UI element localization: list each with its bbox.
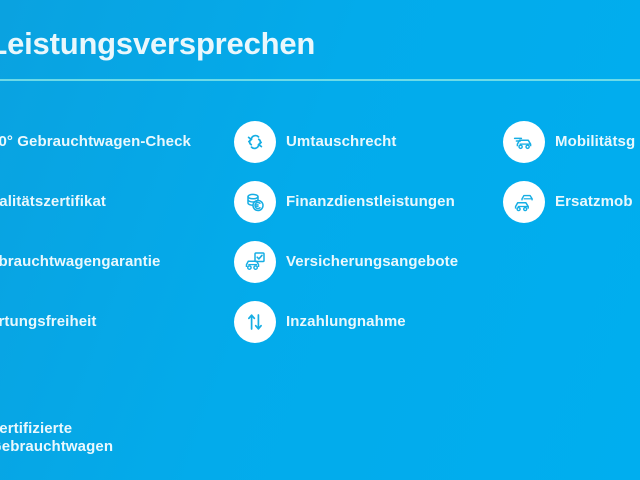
feature-item[interactable]: Umtauschrecht bbox=[234, 112, 502, 172]
coins-euro-icon bbox=[234, 181, 276, 223]
feature-label: Zertifizierte Gebrauchtwagen bbox=[0, 420, 113, 456]
page-title: ere Leistungsversprechen bbox=[0, 24, 640, 64]
feature-item[interactable]: Versicherungsangebote bbox=[234, 232, 502, 292]
feature-label: Inzahlungnahme bbox=[286, 313, 406, 331]
feature-label: Ersatzmob bbox=[555, 193, 633, 211]
feature-label: artungsfreiheit bbox=[0, 313, 97, 331]
column-right: Mobilitätsg Ersatzmob bbox=[503, 112, 640, 232]
title-block: ere Leistungsversprechen bbox=[0, 24, 640, 64]
feature-item[interactable]: Finanzdienstleistungen bbox=[234, 172, 502, 232]
title-divider bbox=[0, 79, 640, 81]
features-grid: 60° Gebrauchtwagen-Check ualitätszertifi… bbox=[0, 112, 640, 472]
feature-label: 60° Gebrauchtwagen-Check bbox=[0, 133, 191, 151]
slide-canvas: ere Leistungsversprechen 60° Gebrauchtwa… bbox=[0, 0, 640, 480]
feature-label: Versicherungsangebote bbox=[286, 253, 458, 271]
feature-item[interactable]: Mobilitätsg bbox=[503, 112, 640, 172]
feature-item[interactable]: Ersatzmob bbox=[503, 172, 640, 232]
feature-label: Finanzdienstleistungen bbox=[286, 193, 455, 211]
feature-label: ebrauchtwagengarantie bbox=[0, 253, 160, 271]
column-middle: Umtauschrecht Finanzdienstleistungen bbox=[234, 112, 502, 352]
feature-item[interactable]: Inzahlungnahme bbox=[234, 292, 502, 352]
car-document-check-icon bbox=[234, 241, 276, 283]
feature-item[interactable]: Zertifizierte Gebrauchtwagen bbox=[0, 408, 238, 468]
feature-label: Mobilitätsg bbox=[555, 133, 635, 151]
feature-item[interactable]: 60° Gebrauchtwagen-Check bbox=[0, 112, 238, 172]
up-down-arrows-icon bbox=[234, 301, 276, 343]
car-speed-icon bbox=[503, 121, 545, 163]
feature-label: ualitätszertifikat bbox=[0, 193, 106, 211]
feature-item[interactable]: ebrauchtwagengarantie bbox=[0, 232, 238, 292]
feature-label: Umtauschrecht bbox=[286, 133, 397, 151]
two-cars-icon bbox=[503, 181, 545, 223]
feature-item[interactable]: ualitätszertifikat bbox=[0, 172, 238, 232]
feature-item[interactable]: artungsfreiheit bbox=[0, 292, 238, 352]
exchange-arrows-icon bbox=[234, 121, 276, 163]
column-left: 60° Gebrauchtwagen-Check ualitätszertifi… bbox=[0, 112, 238, 468]
